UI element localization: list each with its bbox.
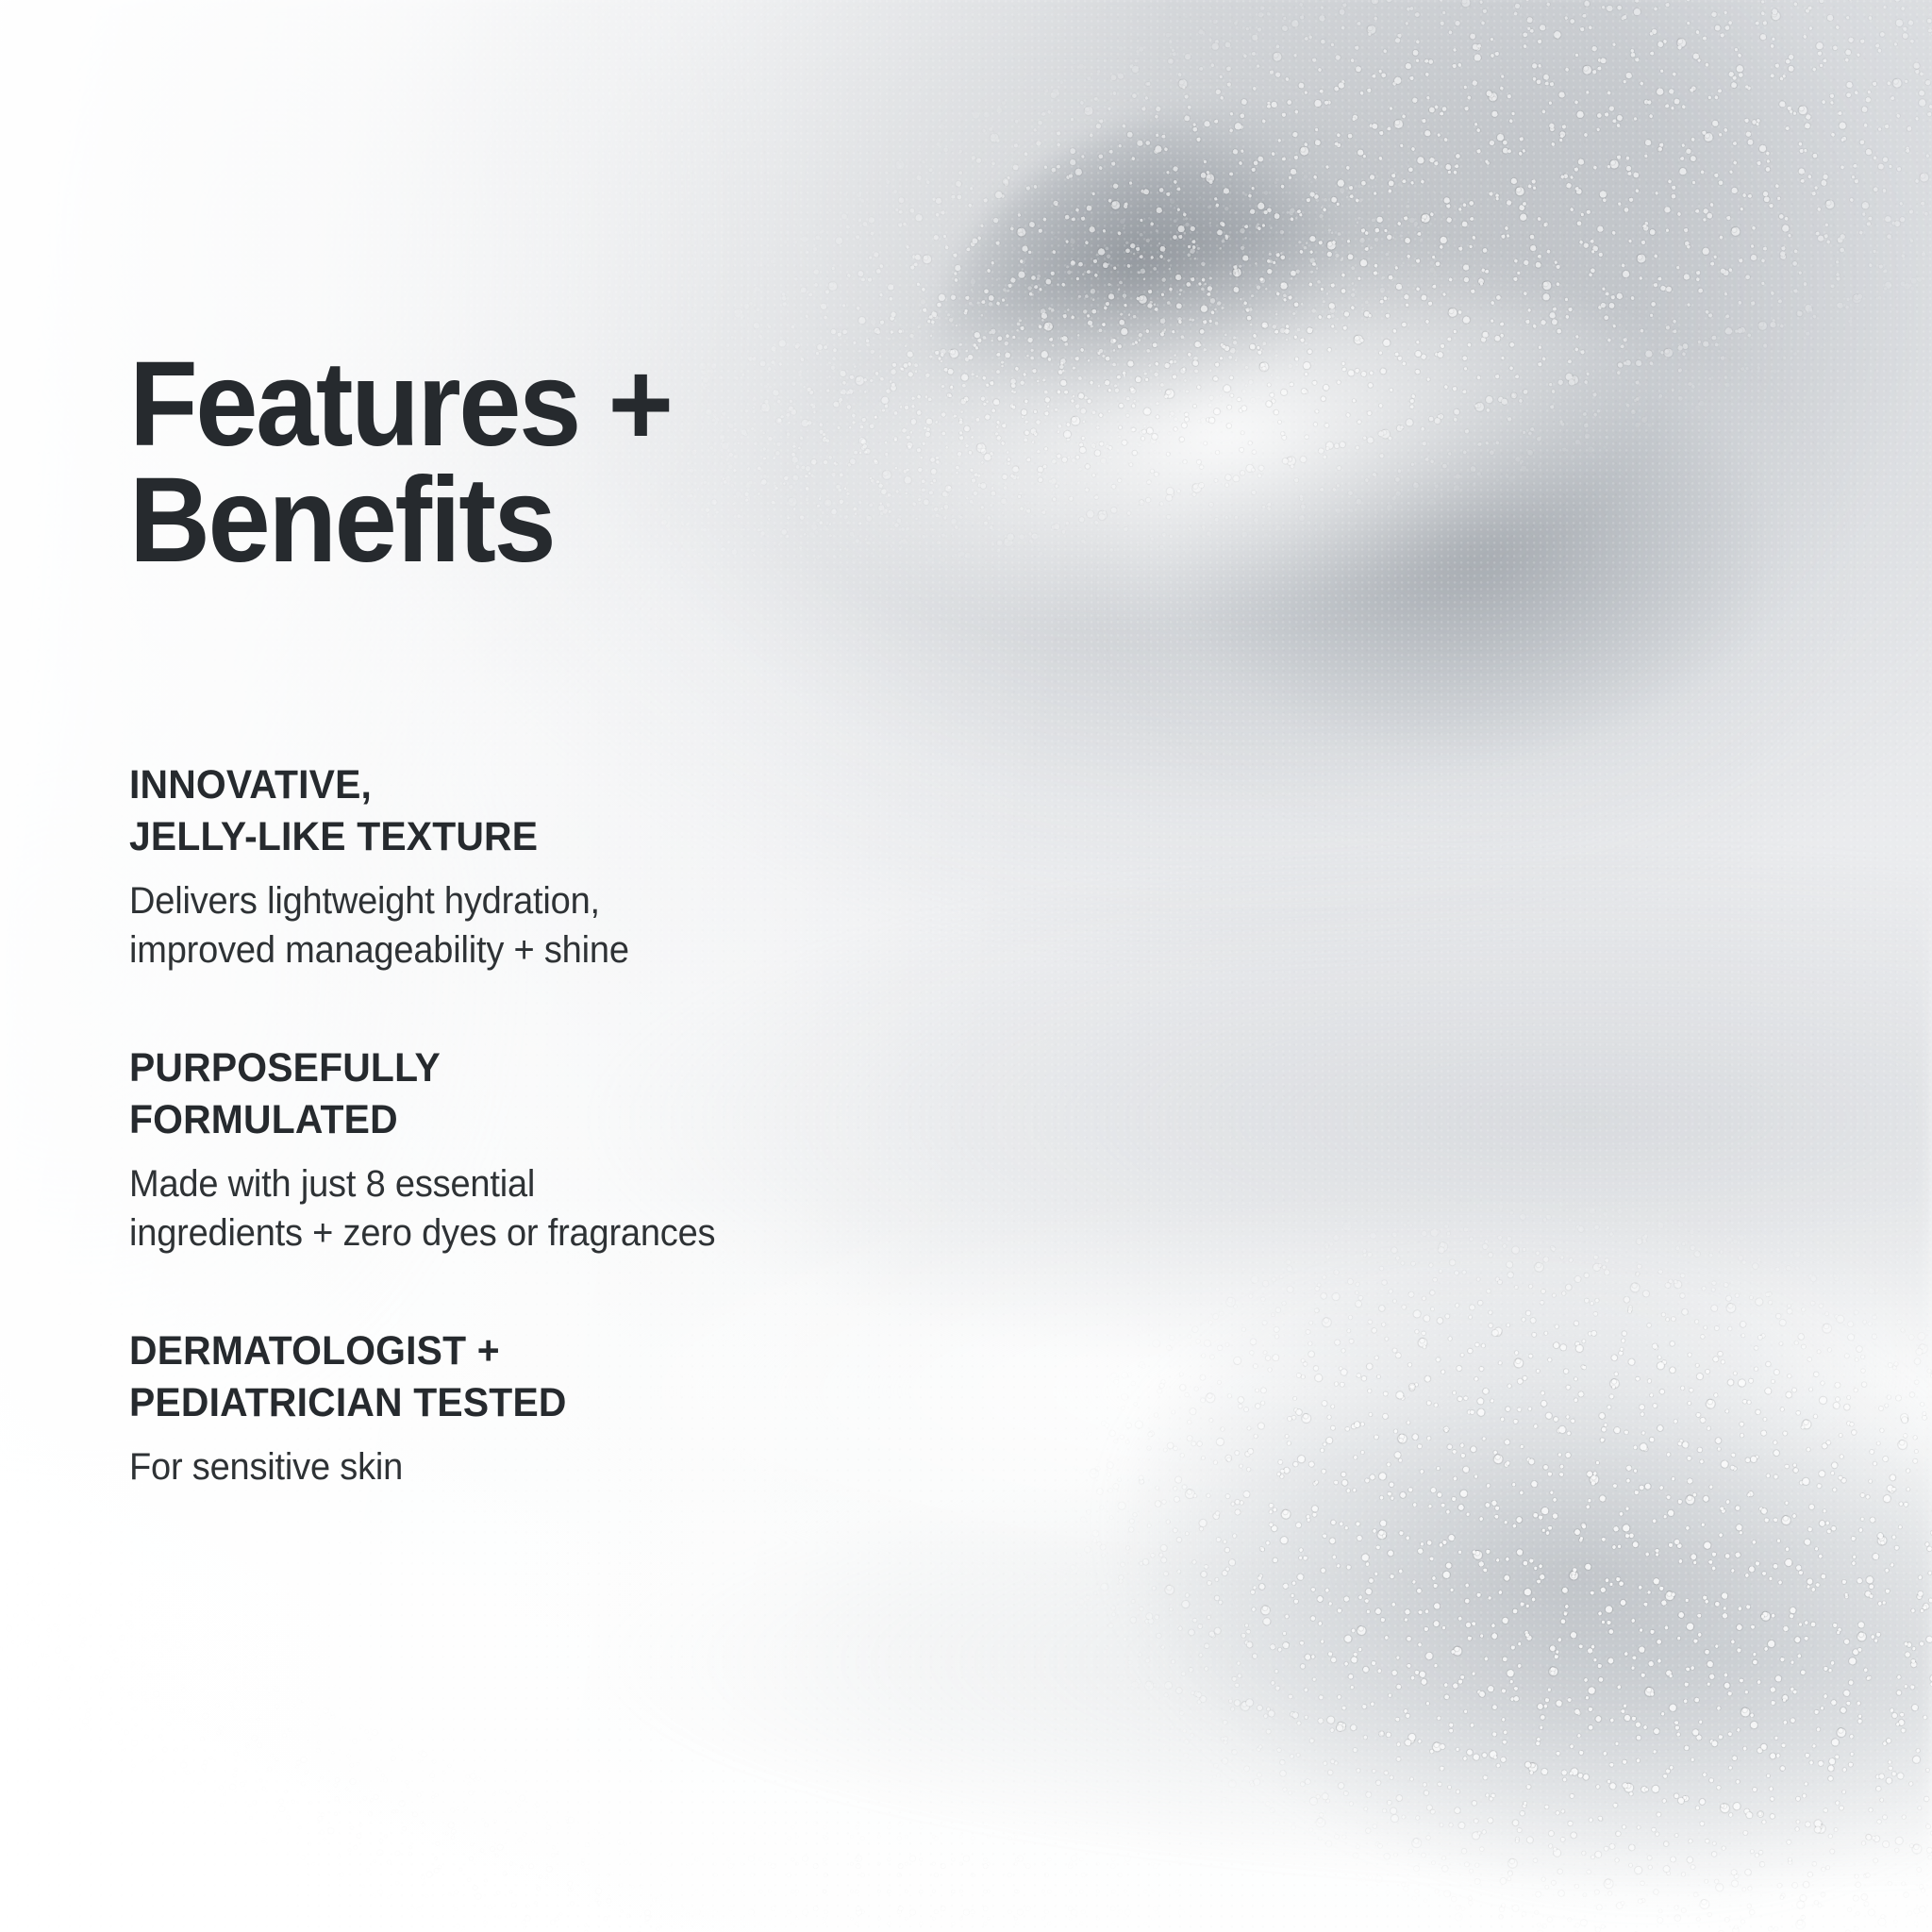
page-title: Features + Benefits — [129, 347, 672, 579]
features-list: INNOVATIVE, JELLY-LIKE TEXTURE Delivers … — [129, 759, 978, 1491]
feature-block-innovative-jelly-like-texture: INNOVATIVE, JELLY-LIKE TEXTURE Delivers … — [129, 759, 978, 974]
feature-description: For sensitive skin — [129, 1442, 936, 1491]
content-column: Features + Benefits INNOVATIVE, JELLY-LI… — [129, 0, 1167, 1932]
feature-heading: DERMATOLOGIST + PEDIATRICIAN TESTED — [129, 1325, 936, 1429]
product-features-card: Features + Benefits INNOVATIVE, JELLY-LI… — [0, 0, 1932, 1932]
feature-description: Made with just 8 essential ingredients +… — [129, 1159, 936, 1257]
feature-heading: INNOVATIVE, JELLY-LIKE TEXTURE — [129, 759, 936, 863]
feature-block-dermatologist-pediatrician-tested: DERMATOLOGIST + PEDIATRICIAN TESTED For … — [129, 1325, 978, 1491]
feature-description: Delivers lightweight hydration, improved… — [129, 876, 936, 974]
feature-block-purposefully-formulated: PURPOSEFULLY FORMULATED Made with just 8… — [129, 1042, 978, 1257]
feature-heading: PURPOSEFULLY FORMULATED — [129, 1042, 936, 1146]
